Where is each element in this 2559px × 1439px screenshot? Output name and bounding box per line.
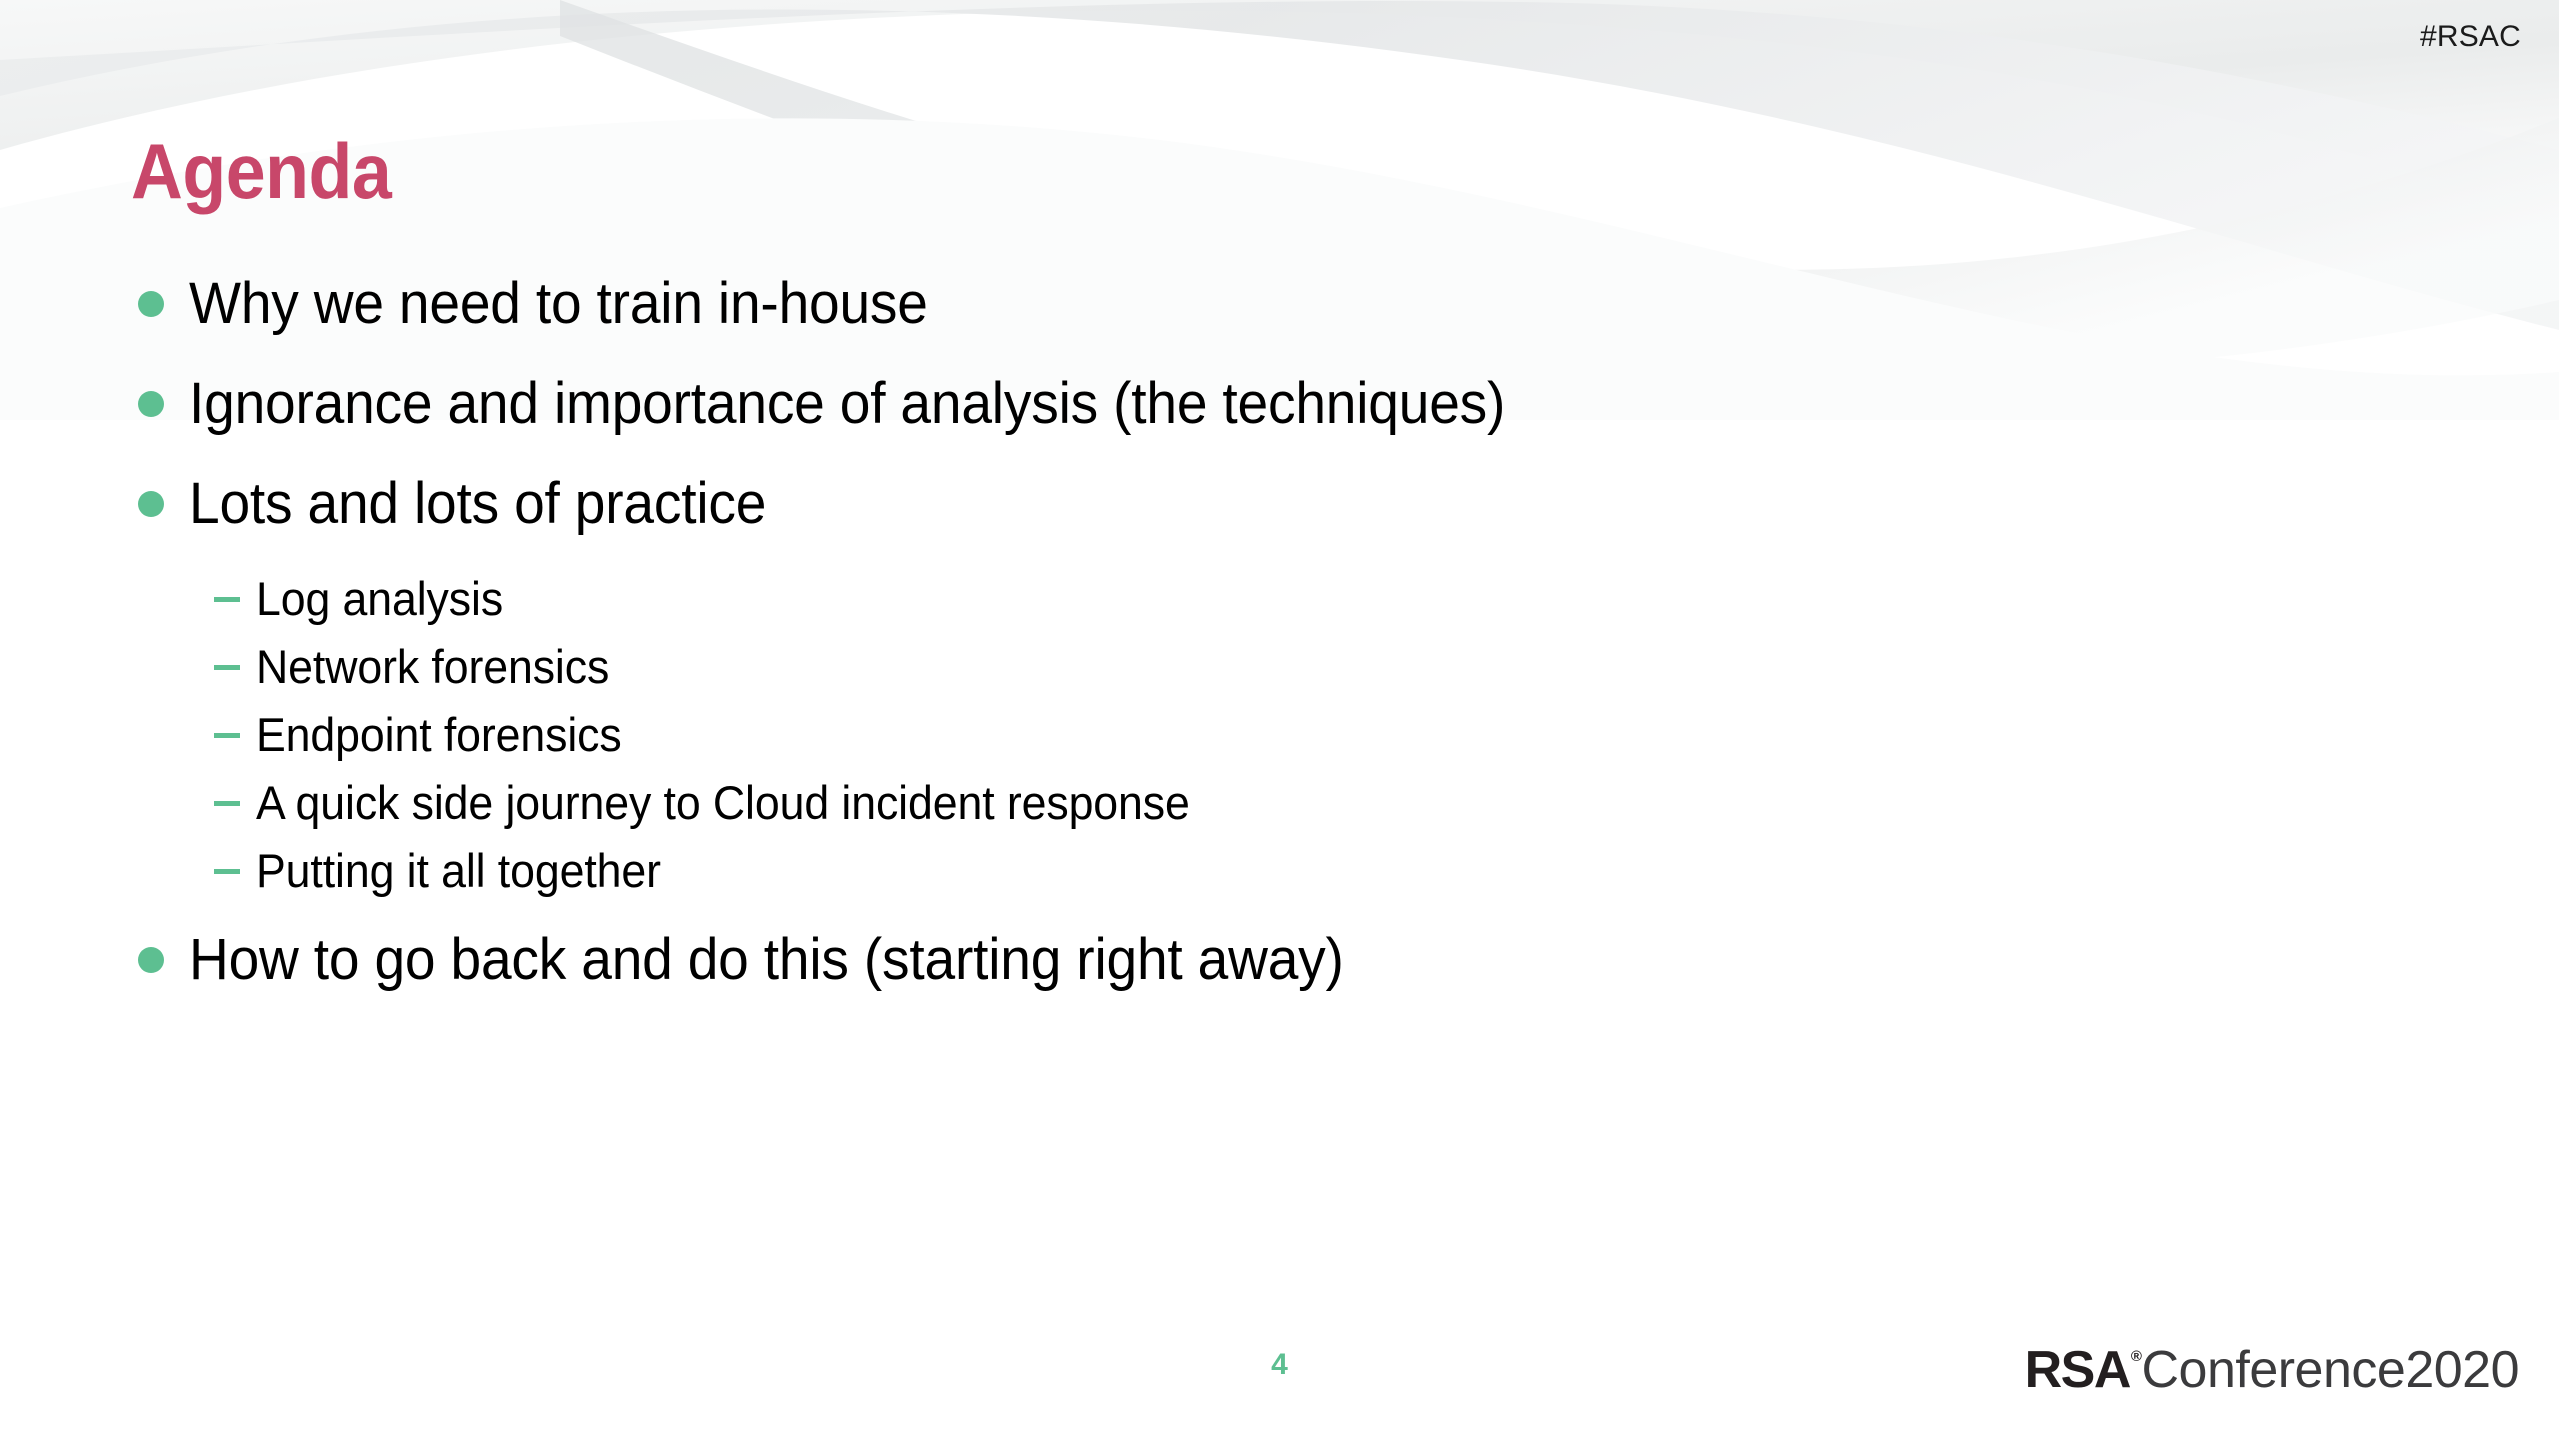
list-item-label: How to go back and do this (starting rig… [189, 924, 1344, 996]
dot-bullet-icon [131, 468, 189, 540]
sub-list-item-label: Endpoint forensics [256, 704, 622, 766]
list-item: Lots and lots of practice [131, 468, 2331, 540]
sub-list-item: Log analysis [131, 568, 2331, 630]
rsa-conference-logo: RSA ® Conference2020 [2025, 1344, 2519, 1400]
sub-list-item-label: Putting it all together [256, 840, 661, 902]
sub-list-item: Endpoint forensics [131, 704, 2331, 766]
dot-bullet-icon [131, 368, 189, 440]
dash-bullet-icon [131, 636, 256, 698]
list-item: Ignorance and importance of analysis (th… [131, 368, 2331, 440]
sub-list-item-label: Log analysis [256, 568, 503, 630]
presentation-slide: #RSAC Agenda Why we need to train in-hou… [0, 0, 2559, 1439]
dash-bullet-icon [131, 840, 256, 902]
rsac-hashtag: #RSAC [2420, 20, 2521, 54]
list-item: How to go back and do this (starting rig… [131, 924, 2331, 996]
sub-list-item: A quick side journey to Cloud incident r… [131, 772, 2331, 834]
logo-conference-text: Conference2020 [2141, 1344, 2519, 1396]
dash-bullet-icon [131, 772, 256, 834]
dash-bullet-icon [131, 568, 256, 630]
logo-rsa-wordmark: RSA ® [2025, 1344, 2140, 1396]
registered-trademark-icon: ® [2131, 1349, 2141, 1364]
sub-list-item: Putting it all together [131, 840, 2331, 902]
list-item-label: Why we need to train in-house [189, 268, 928, 340]
logo-rs-text: RSA [2025, 1344, 2130, 1396]
list-item: Why we need to train in-house [131, 268, 2331, 340]
sub-list-item: Network forensics [131, 636, 2331, 698]
sub-list-item-label: Network forensics [256, 636, 609, 698]
list-item-label: Lots and lots of practice [189, 468, 766, 540]
agenda-list: Why we need to train in-house Ignorance … [131, 268, 2331, 1024]
agenda-sublist: Log analysis Network forensics Endpoint … [131, 568, 2331, 902]
dot-bullet-icon [131, 924, 189, 996]
dash-bullet-icon [131, 704, 256, 766]
dot-bullet-icon [131, 268, 189, 340]
page-title: Agenda [131, 132, 391, 210]
list-item-label: Ignorance and importance of analysis (th… [189, 368, 1505, 440]
sub-list-item-label: A quick side journey to Cloud incident r… [256, 772, 1190, 834]
